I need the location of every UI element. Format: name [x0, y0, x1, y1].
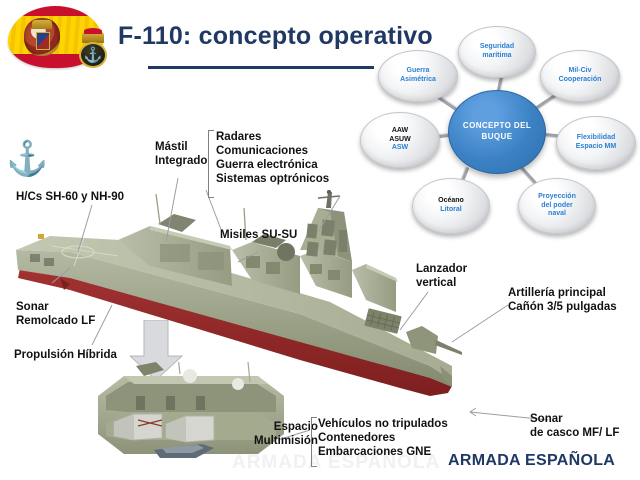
node-oceano-litoral[interactable]: Océano Litoral	[412, 178, 490, 234]
anchor-icon	[79, 42, 107, 68]
bracket-multimission-items	[311, 417, 317, 467]
node-seguridad-maritima[interactable]: Seguridad marítima	[458, 26, 536, 78]
node-oceano-line1: Océano	[438, 197, 464, 204]
node-proy-line2: del poder	[541, 202, 573, 209]
callout-multimission-space: Espacio Multimisión	[254, 420, 318, 448]
callout-towed-sonar: Sonar Remolcado LF	[16, 300, 95, 328]
watermark-anchor-icon: ⚓	[6, 142, 48, 176]
node-milciv-line1: Mil-Civ	[569, 67, 592, 74]
node-guerra-line2: Asimétrica	[400, 76, 436, 83]
callout-hull-sonar: Sonar de casco MF/ LF	[530, 412, 619, 440]
callout-propulsion: Propulsión Híbrida	[14, 348, 117, 362]
node-seguridad-line1: Seguridad	[480, 43, 514, 50]
node-flex-line1: Flexibilidad	[577, 134, 616, 141]
diagram-hub-label: CONCEPTO DEL BUQUE	[449, 121, 545, 143]
navy-anchor-badge-icon	[78, 32, 108, 68]
diagram-hub: CONCEPTO DEL BUQUE	[448, 90, 546, 174]
organization-footer: ARMADA ESPAÑOLA	[448, 452, 615, 470]
node-seguridad-line2: marítima	[482, 52, 511, 59]
node-proyeccion-poder-naval[interactable]: Proyección del poder naval	[518, 178, 596, 234]
node-guerra-line1: Guerra	[407, 67, 430, 74]
concept-diagram: CONCEPTO DEL BUQUE Seguridad marítima Mi…	[350, 12, 640, 237]
callout-mast: Mástil Integrado	[155, 140, 207, 168]
node-flex-line2: Espacio MM	[576, 143, 616, 150]
title-underline	[148, 66, 374, 69]
node-aaw-line2: ASUW	[389, 136, 410, 143]
coat-of-arms-icon	[24, 18, 60, 56]
node-aaw-line1: AAW	[392, 127, 408, 134]
node-aaw-line3: ASW	[392, 144, 408, 151]
slide-root: F-110: concepto operativo ⚓ ARMADA ESPAÑ…	[0, 0, 640, 480]
callout-mast-systems: Radares Comunicaciones Guerra electrónic…	[216, 130, 329, 186]
node-guerra-asimetrica[interactable]: Guerra Asimétrica	[378, 50, 458, 102]
callout-main-gun: Artillería principal Cañón 3/5 pulgadas	[508, 286, 617, 314]
node-aaw-asuw-asw[interactable]: AAW ASUW ASW	[360, 112, 440, 168]
callout-helicopters: H/Cs SH-60 y NH-90	[16, 190, 124, 204]
node-milciv-line2: Cooperación	[559, 76, 602, 83]
flag-stripe-top	[8, 6, 103, 16]
node-oceano-line2: Litoral	[440, 206, 461, 213]
node-proy-line1: Proyección	[538, 193, 576, 200]
node-mil-civ-cooperacion[interactable]: Mil-Civ Cooperación	[540, 50, 620, 102]
node-proy-line3: naval	[548, 210, 566, 217]
callout-missiles: Misiles SU-SU	[220, 228, 297, 242]
callout-multimission-items: Vehículos no tripulados Contenedores Emb…	[318, 417, 448, 459]
multimission-module-illustration	[92, 362, 292, 470]
bracket-mast-systems	[208, 130, 214, 198]
node-flexibilidad-espacio-mm[interactable]: Flexibilidad Espacio MM	[556, 116, 636, 170]
callout-vls: Lanzador vertical	[416, 262, 467, 290]
